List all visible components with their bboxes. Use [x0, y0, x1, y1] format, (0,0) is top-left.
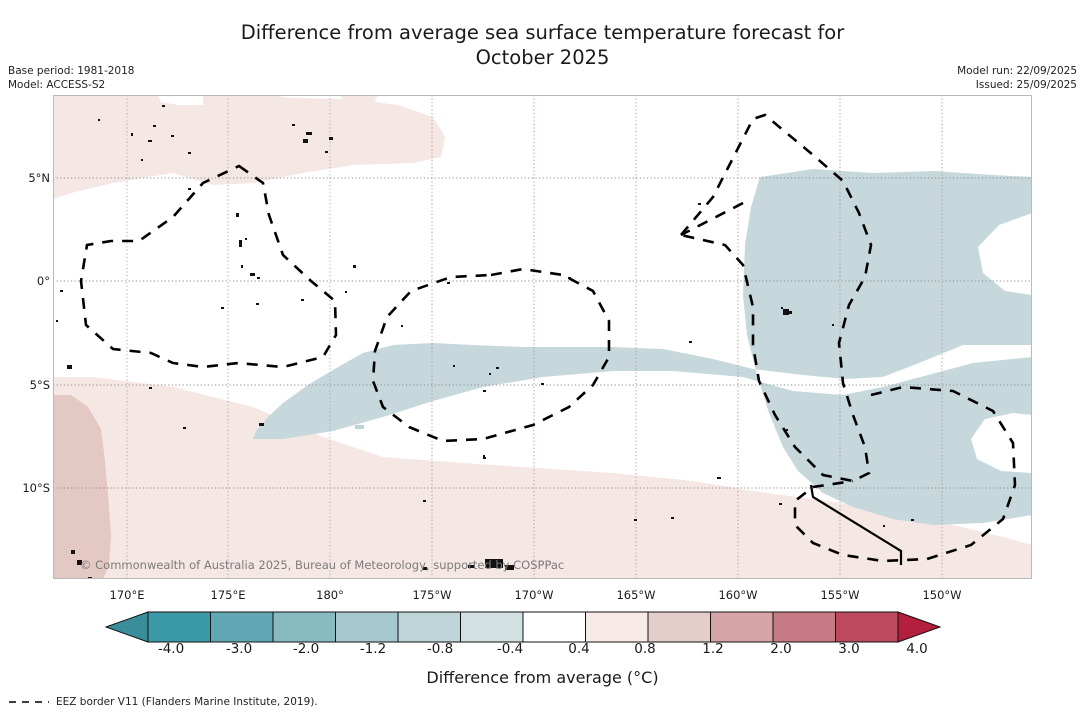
colorbar-segments [148, 612, 898, 642]
model-run-text: Model run: 22/09/2025 [957, 64, 1077, 78]
cb-tick-7: 0.8 [634, 641, 655, 657]
x-tick-5: 165°W [616, 588, 655, 602]
x-tick-6: 160°W [718, 588, 757, 602]
x-tick-1: 175°E [211, 588, 246, 602]
model-text: Model: ACCESS-S2 [8, 78, 134, 92]
map-plot-area[interactable] [53, 95, 1032, 579]
y-tick-0: 5°N [28, 171, 50, 185]
cb-tick-1: -3.0 [226, 641, 252, 657]
cb-tick-11: 4.0 [906, 641, 927, 657]
x-tick-3: 175°W [412, 588, 451, 602]
cb-tick-10: 3.0 [838, 641, 859, 657]
page-title: Difference from average sea surface temp… [0, 20, 1085, 70]
colorbar-under-arrow [106, 612, 148, 642]
colorbar-title: Difference from average (°C) [0, 668, 1085, 687]
footer-legend: EEZ border V11 (Flanders Marine Institut… [8, 694, 318, 710]
x-tick-0: 170°E [110, 588, 145, 602]
x-tick-2: 180° [316, 588, 344, 602]
figure-canvas: Difference from average sea surface temp… [0, 0, 1085, 713]
sst-anomaly-map [53, 95, 1032, 579]
cb-tick-3: -1.2 [360, 641, 386, 657]
x-tick-7: 155°W [820, 588, 859, 602]
colorbar-over-arrow [898, 612, 940, 642]
colorbar-tick-labels: -4.0 -3.0 -2.0 -1.2 -0.8 -0.4 0.4 0.8 1.… [0, 641, 1085, 661]
y-tick-1: 0° [37, 274, 50, 288]
x-tick-8: 150°W [922, 588, 961, 602]
cb-tick-0: -4.0 [158, 641, 184, 657]
metadata-left: Base period: 1981-2018 Model: ACCESS-S2 [8, 64, 134, 92]
eez-dash-key-icon [8, 697, 50, 707]
cool-speck [355, 425, 364, 429]
copyright-text: © Commonwealth of Australia 2025, Bureau… [80, 558, 564, 572]
y-tick-2: 5°S [30, 378, 50, 392]
cb-tick-4: -0.8 [427, 641, 453, 657]
cb-tick-9: 2.0 [770, 641, 791, 657]
x-tick-4: 170°W [514, 588, 553, 602]
y-tick-3: 10°S [22, 481, 50, 495]
cb-tick-8: 1.2 [702, 641, 723, 657]
cb-tick-5: -0.4 [497, 641, 523, 657]
metadata-right: Model run: 22/09/2025 Issued: 25/09/2025 [957, 64, 1077, 92]
base-period-text: Base period: 1981-2018 [8, 64, 134, 78]
issued-text: Issued: 25/09/2025 [957, 78, 1077, 92]
footer-legend-text: EEZ border V11 (Flanders Marine Institut… [56, 696, 318, 708]
cb-tick-6: 0.4 [568, 641, 589, 657]
cb-tick-2: -2.0 [293, 641, 319, 657]
